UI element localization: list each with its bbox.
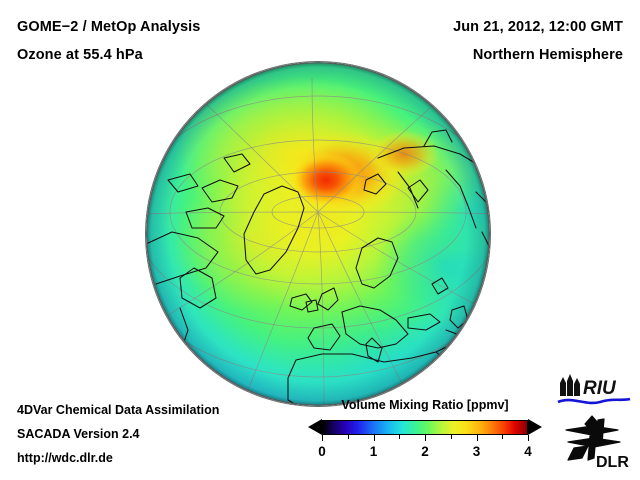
colorbar: Volume Mixing Ratio [ppmv] 01234 (300, 398, 550, 464)
dlr-logo: DLR (562, 414, 634, 470)
colorbar-tick-label: 0 (318, 444, 326, 459)
ozone-field-svg (146, 62, 490, 406)
colorbar-tick-label: 1 (370, 444, 378, 459)
colorbar-major-tick (374, 435, 375, 441)
dlr-wordmark: DLR (596, 454, 629, 470)
colorbar-tick-labels: 01234 (300, 444, 550, 464)
globe-map-container (146, 62, 494, 410)
colorbar-minor-tick (348, 435, 349, 439)
colorbar-low-extend-arrow (308, 419, 322, 435)
website-url[interactable]: http://wdc.dlr.de (17, 451, 113, 465)
orthographic-ozone-map (146, 62, 490, 406)
colorbar-title: Volume Mixing Ratio [ppmv] (300, 398, 550, 412)
colorbar-ticks (322, 435, 528, 441)
colorbar-minor-tick (451, 435, 452, 439)
colorbar-row (300, 417, 550, 439)
colorbar-minor-tick (502, 435, 503, 439)
riu-logo: RIU (556, 372, 632, 408)
colorbar-major-tick (528, 435, 529, 441)
colorbar-tick-label: 4 (524, 444, 532, 459)
colorbar-minor-tick (399, 435, 400, 439)
colorbar-major-tick (322, 435, 323, 441)
product-title: Ozone at 55.4 hPa (17, 47, 143, 63)
riu-wordmark: RIU (583, 378, 617, 399)
colorbar-major-tick (477, 435, 478, 441)
colorbar-tick-label: 3 (473, 444, 481, 459)
region-label: Northern Hemisphere (473, 47, 623, 63)
colorbar-major-tick (425, 435, 426, 441)
colorbar-gradient (322, 420, 528, 435)
riu-wave (558, 399, 630, 403)
datetime-label: Jun 21, 2012, 12:00 GMT (453, 19, 623, 35)
colorbar-high-extend-arrow (528, 419, 542, 435)
instrument-title: GOME−2 / MetOp Analysis (17, 19, 200, 35)
method-label: 4DVar Chemical Data Assimilation (17, 403, 219, 417)
version-label: SACADA Version 2.4 (17, 427, 140, 441)
colorbar-tick-label: 2 (421, 444, 429, 459)
